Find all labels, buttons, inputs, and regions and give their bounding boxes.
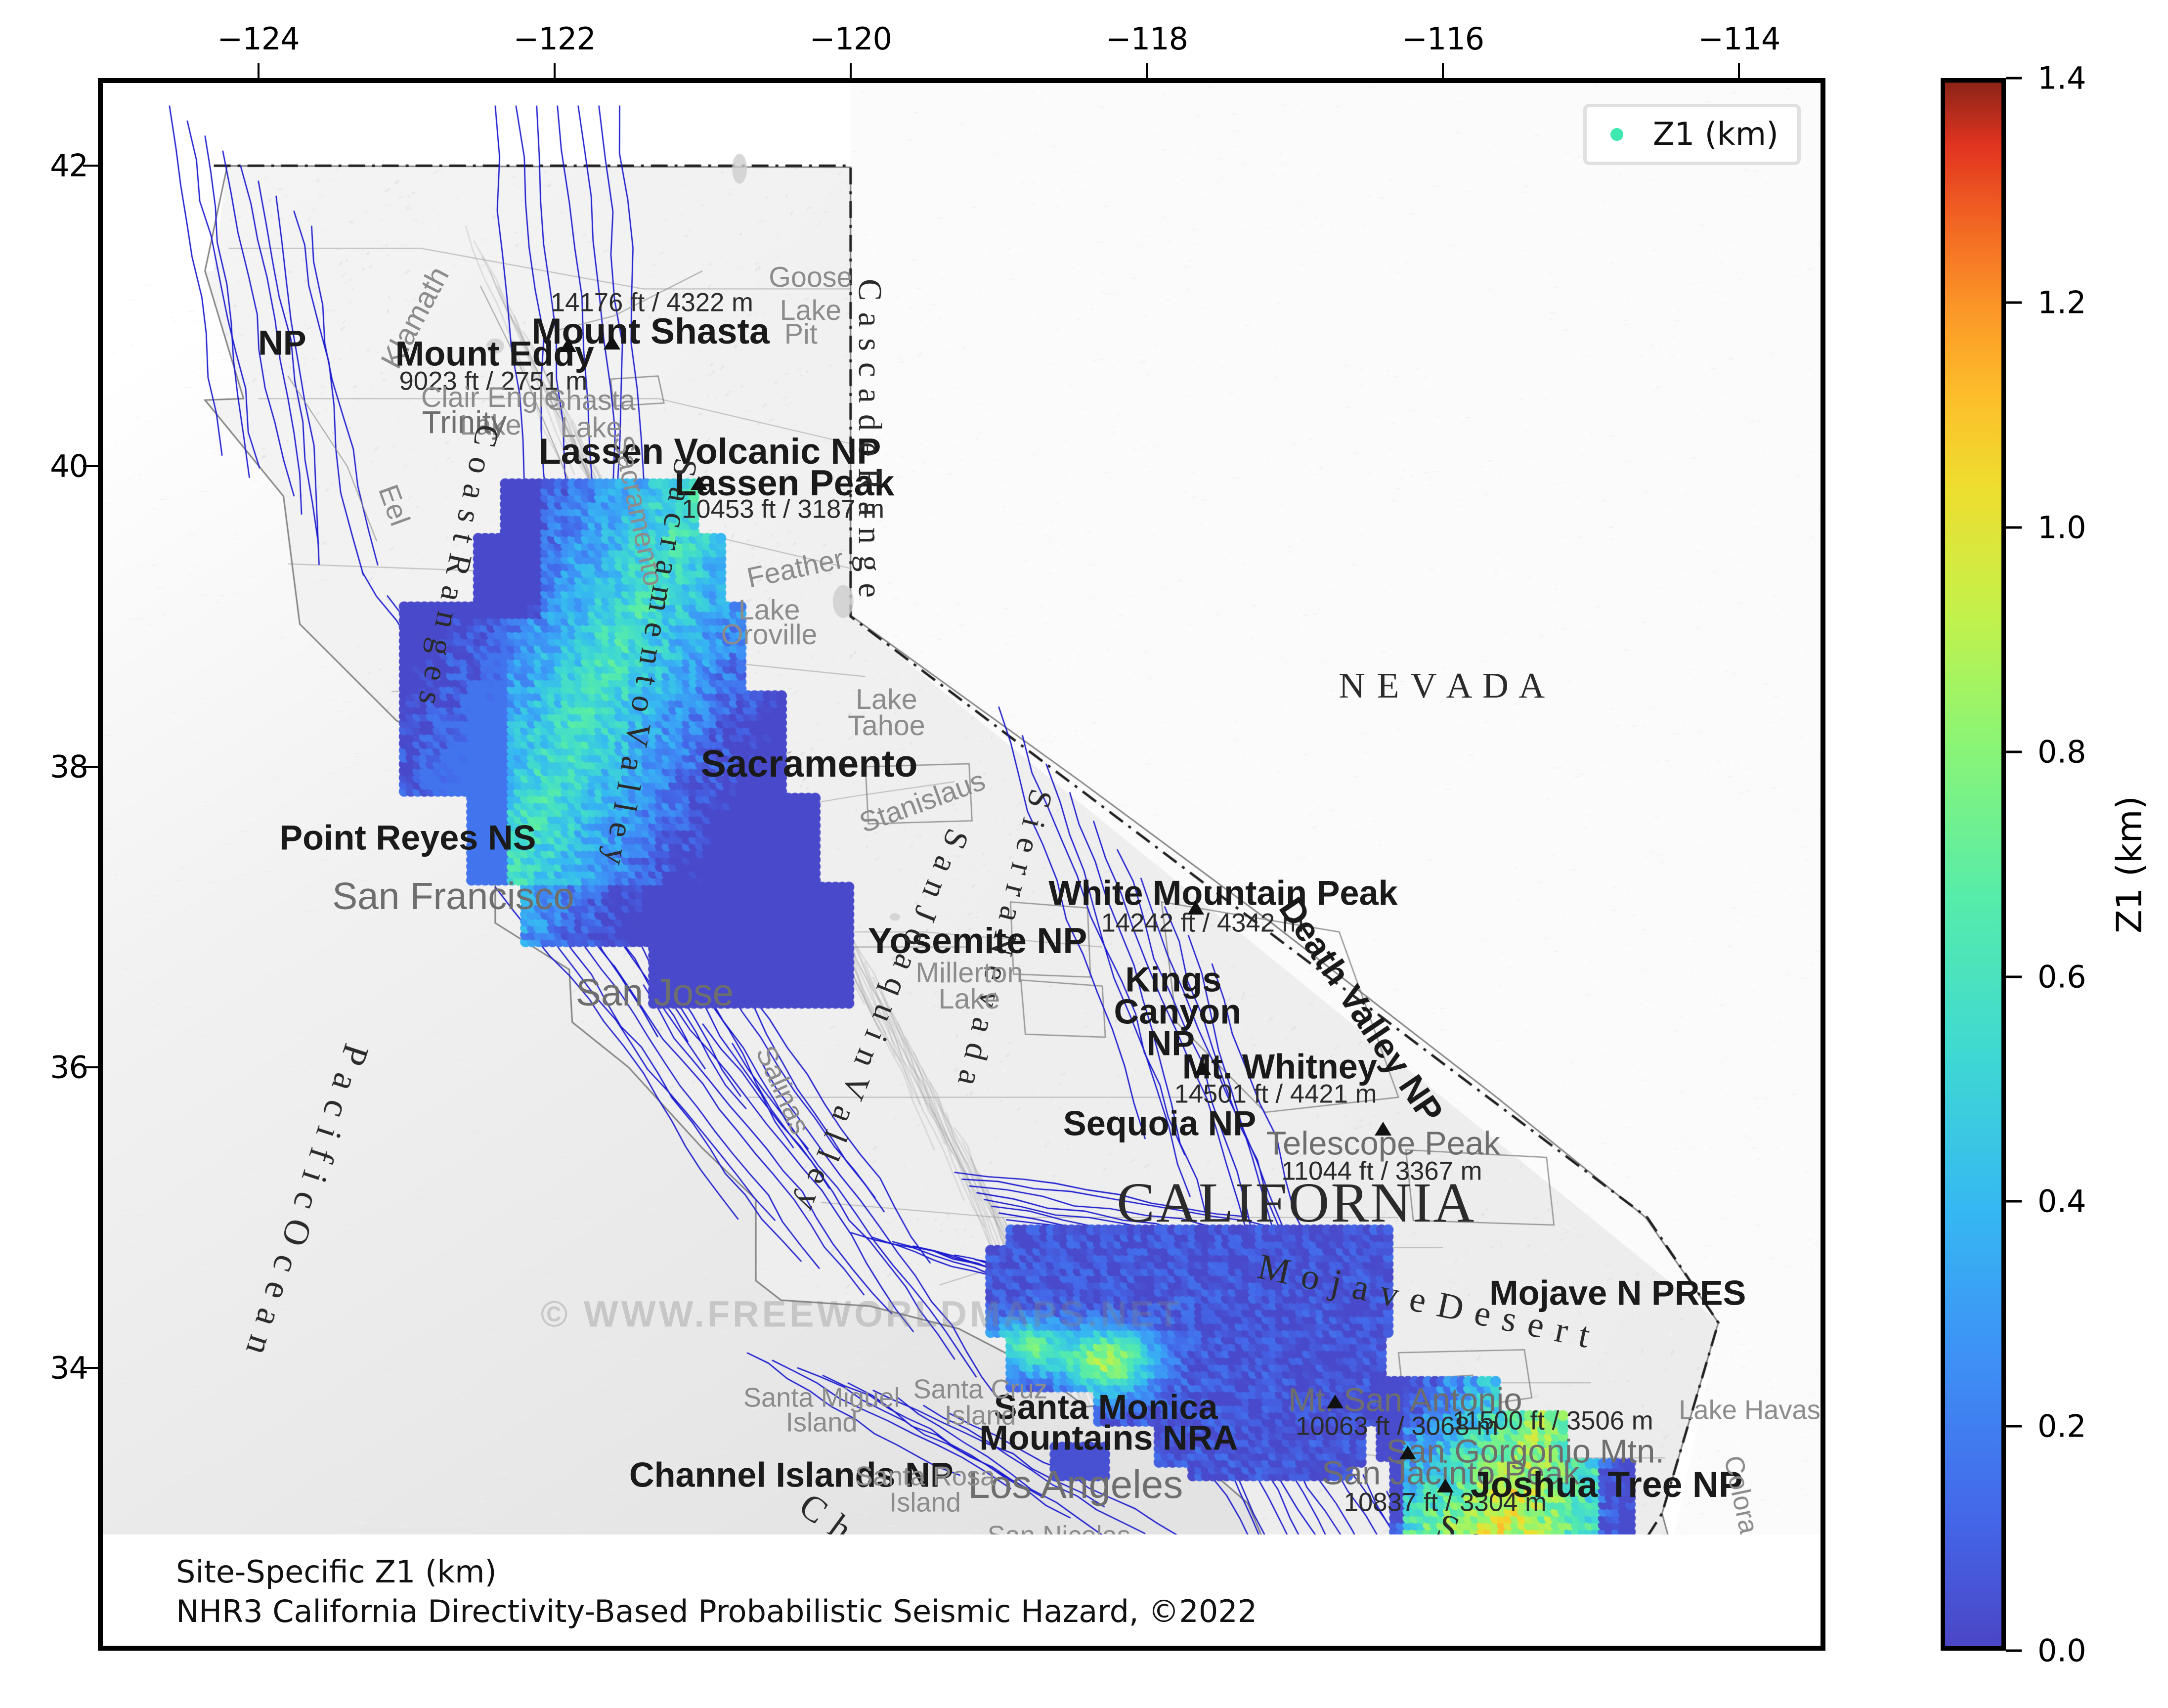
colorbar-tick-label: 1.4: [2038, 60, 2086, 96]
colorbar-tick-mark: [2006, 1650, 2022, 1652]
y-tick-label: 34: [50, 1350, 88, 1386]
colorbar-tick-label: 1.0: [2038, 509, 2086, 545]
x-tick-label: −118: [1106, 21, 1188, 57]
legend-box[interactable]: Z1 (km): [1583, 104, 1801, 165]
figure-root: NPKlamathMount Eddy9023 ft / 2751 m14176…: [0, 0, 2168, 1708]
x-tick-mark: [1442, 63, 1444, 78]
y-tick-label: 38: [50, 748, 88, 785]
peak-marker-mt-san-antonio-marker: [1327, 1395, 1344, 1408]
x-tick-mark: [258, 63, 260, 78]
peak-marker-mount-shasta-peak: [604, 336, 620, 350]
legend-marker-icon: [1610, 128, 1623, 141]
colorbar-tick-label: 0.4: [2038, 1183, 2086, 1220]
peak-marker-san-jacinto-marker: [1437, 1479, 1454, 1492]
colorbar-title: Z1 (km): [2109, 795, 2150, 933]
colorbar-tick-mark: [2006, 751, 2022, 753]
x-tick-label: −116: [1402, 21, 1484, 57]
x-tick-mark: [554, 63, 556, 78]
y-tick-mark: [83, 1367, 98, 1369]
y-tick-label: 36: [50, 1049, 88, 1085]
caption-line-1: Site-Specific Z1 (km): [176, 1552, 1821, 1591]
peak-marker-lassen-peak-marker: [691, 476, 707, 490]
y-tick-mark: [83, 1066, 98, 1068]
x-tick-label: −120: [810, 21, 892, 57]
peak-marker-mount-eddy-peak: [560, 338, 576, 352]
colorbar-group[interactable]: 0.00.20.40.60.81.01.21.4 Z1 (km): [1941, 78, 2168, 1651]
colorbar-tick-label: 0.6: [2038, 959, 2086, 995]
watermark-text: © WWW.FREEWORLDMAPS.NET: [541, 1293, 1182, 1335]
colorbar-tick-label: 0.8: [2038, 734, 2086, 770]
colorbar-tick-mark: [2006, 302, 2022, 304]
x-tick-label: −122: [514, 21, 596, 57]
colorbar-tick-mark: [2006, 1200, 2022, 1203]
peak-marker-white-mountain-marker: [1187, 901, 1204, 915]
colorbar-tick-mark: [2006, 1425, 2022, 1427]
colorbar-tick-label: 0.2: [2038, 1408, 2086, 1444]
x-tick-mark: [1146, 63, 1148, 78]
y-tick-mark: [83, 766, 98, 768]
y-tick-label: 42: [50, 148, 88, 184]
x-tick-label: −124: [217, 21, 299, 57]
map-canvas[interactable]: [103, 83, 1821, 1646]
y-tick-mark: [83, 165, 98, 167]
caption-block: Site-Specific Z1 (km) NHR3 California Di…: [103, 1534, 1821, 1646]
x-tick-label: −114: [1698, 21, 1780, 57]
colorbar-tick-mark: [2006, 77, 2022, 80]
colorbar-tick-label: 1.2: [2038, 285, 2086, 321]
map-axes[interactable]: NPKlamathMount Eddy9023 ft / 2751 m14176…: [98, 78, 1825, 1651]
peak-marker-telescope-peak-marker: [1375, 1122, 1391, 1136]
peak-marker-san-gorgonio-marker: [1399, 1445, 1416, 1459]
caption-line-2: NHR3 California Directivity-Based Probab…: [176, 1592, 1821, 1631]
legend-label: Z1 (km): [1653, 116, 1778, 153]
colorbar[interactable]: [1941, 78, 2006, 1651]
y-tick-label: 40: [50, 448, 88, 484]
x-tick-mark: [850, 63, 852, 78]
colorbar-tick-mark: [2006, 975, 2022, 978]
colorbar-tick-label: 0.0: [2038, 1633, 2086, 1669]
colorbar-gradient: [1945, 83, 2001, 1646]
colorbar-tick-mark: [2006, 526, 2022, 528]
x-tick-mark: [1738, 63, 1740, 78]
y-tick-mark: [83, 465, 98, 467]
peak-marker-mt-whitney-marker: [1194, 1061, 1211, 1075]
